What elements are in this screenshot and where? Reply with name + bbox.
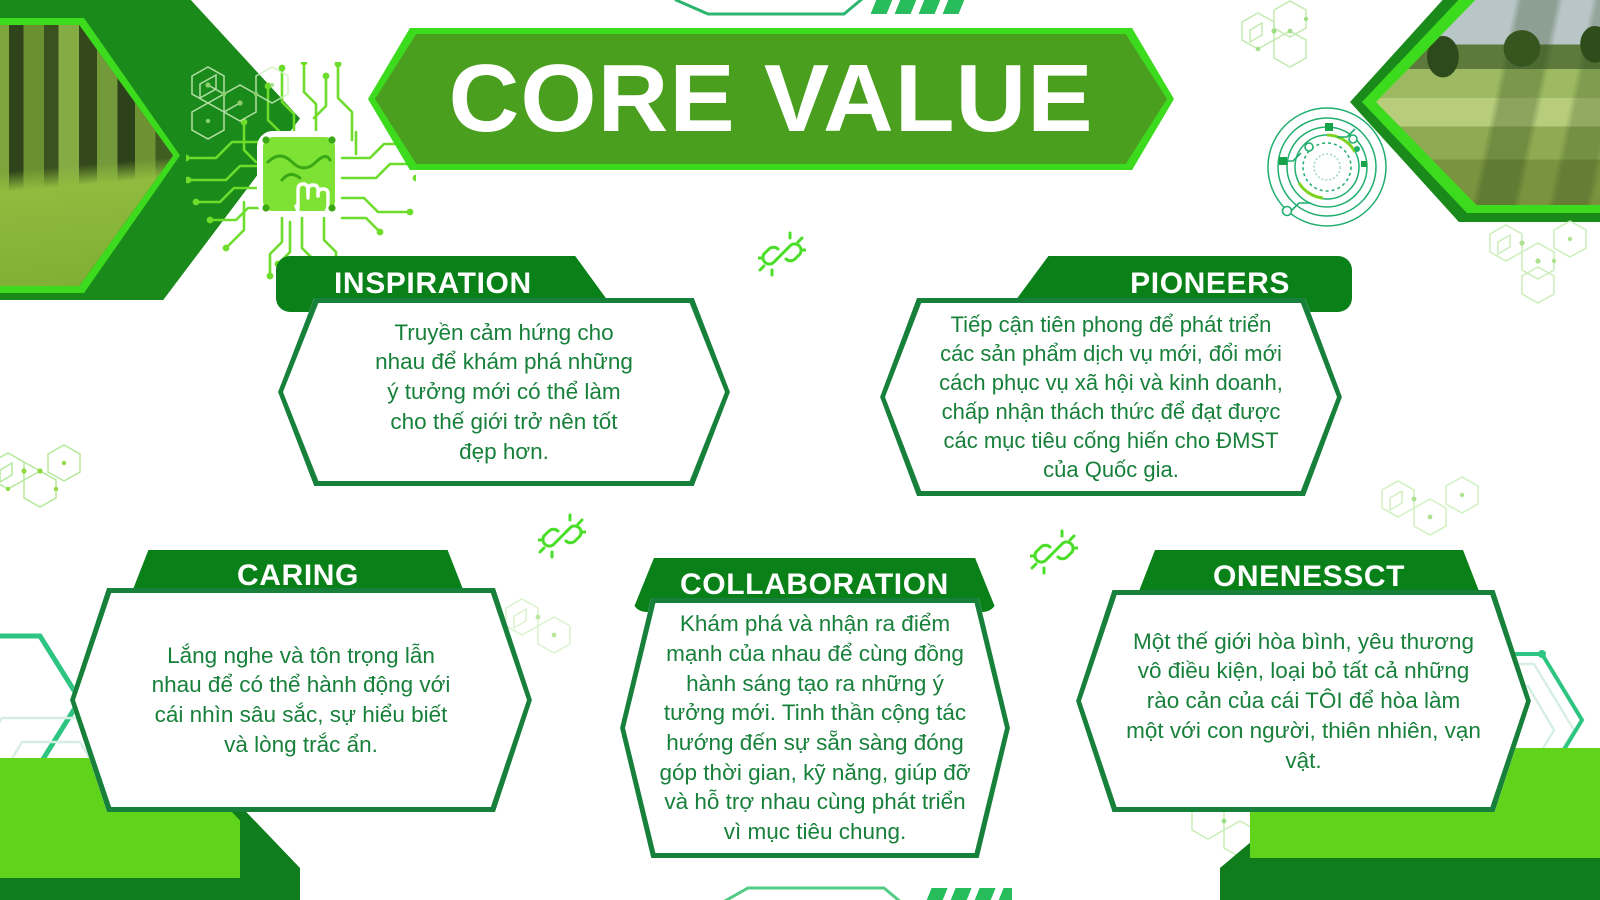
- card-description-onenessct: Một thế giới hòa bình, yêu thương vô điề…: [1126, 627, 1481, 775]
- page-title: CORE VALUE: [449, 51, 1094, 147]
- card-description-inspiration: Truyền cảm hứng cho nhau để khám phá nhữ…: [375, 318, 633, 466]
- value-card-caring[interactable]: CARING Lắng nghe và tôn trọng lẫn nhau đ…: [70, 550, 540, 812]
- forest-photo-hexagon: [0, 18, 180, 293]
- card-title-pioneers: PIONEERS: [1130, 267, 1290, 301]
- link-chain-icon: [758, 230, 806, 278]
- hexagon-node-network-pattern: [0, 440, 98, 535]
- card-title-collaboration: COLLABORATION: [680, 568, 949, 602]
- photo-hexagon-inner-border: [1362, 0, 1600, 213]
- card-title-inspiration: INSPIRATION: [334, 267, 532, 301]
- tech-bracket-bars-ornament: [712, 882, 1012, 900]
- photo-hexagon-outer-border: [1350, 0, 1600, 222]
- card-description-collaboration: Khám phá và nhận ra điểm mạnh của nhau đ…: [660, 609, 971, 847]
- card-description-pioneers: Tiếp cận tiên phong để phát triển các sả…: [939, 310, 1283, 484]
- card-body-caring: Lắng nghe và tôn trọng lẫn nhau để có th…: [70, 588, 532, 812]
- core-value-poster: CORE VALUE INSPIRATION Truyền cảm hứng c…: [0, 0, 1600, 900]
- value-card-collaboration[interactable]: COLLABORATION Khám phá và nhận ra điểm m…: [602, 558, 1042, 858]
- hexagon-node-network-pattern: [1480, 210, 1600, 320]
- golf-course-photo-image: [1376, 0, 1600, 205]
- hexagon-node-network-pattern: [170, 58, 300, 168]
- page-title-banner: CORE VALUE: [368, 28, 1174, 170]
- card-description-caring: Lắng nghe và tôn trọng lẫn nhau để có th…: [152, 641, 451, 760]
- orbital-tech-circle-icon: [1265, 105, 1390, 230]
- value-card-pioneers[interactable]: PIONEERS Tiếp cận tiên phong để phát tri…: [880, 256, 1360, 496]
- value-card-onenessct[interactable]: ONENESSCT Một thế giới hòa bình, yêu thư…: [1062, 550, 1542, 812]
- forest-photo-image: [0, 25, 173, 286]
- card-title-onenessct: ONENESSCT: [1213, 560, 1405, 594]
- golf-course-photo-hexagon: [1350, 0, 1600, 222]
- card-body-onenessct: Một thế giới hòa bình, yêu thương vô điề…: [1076, 590, 1531, 812]
- hexagon-node-network-pattern: [1228, 0, 1348, 100]
- card-body-inspiration: Truyền cảm hứng cho nhau để khám phá nhữ…: [278, 298, 730, 486]
- value-card-inspiration[interactable]: INSPIRATION Truyền cảm hứng cho nhau để …: [268, 256, 738, 486]
- tech-bracket-bars-ornament: [672, 0, 972, 18]
- card-body-inner: Lắng nghe và tôn trọng lẫn nhau để có th…: [75, 593, 527, 807]
- card-title-caring: CARING: [237, 559, 359, 593]
- link-chain-icon: [538, 512, 586, 560]
- card-body-collaboration: Khám phá và nhận ra điểm mạnh của nhau đ…: [620, 598, 1010, 858]
- top-left-wedge-shape: [0, 0, 300, 300]
- card-body-inner: Tiếp cận tiên phong để phát triển các sả…: [885, 303, 1337, 491]
- card-body-pioneers: Tiếp cận tiên phong để phát triển các sả…: [880, 298, 1342, 496]
- card-body-inner: Một thế giới hòa bình, yêu thương vô điề…: [1081, 595, 1526, 807]
- card-body-inner: Truyền cảm hứng cho nhau để khám phá nhữ…: [283, 303, 725, 481]
- card-body-inner: Khám phá và nhận ra điểm mạnh của nhau đ…: [625, 603, 1005, 853]
- title-banner-fill: CORE VALUE: [375, 34, 1167, 164]
